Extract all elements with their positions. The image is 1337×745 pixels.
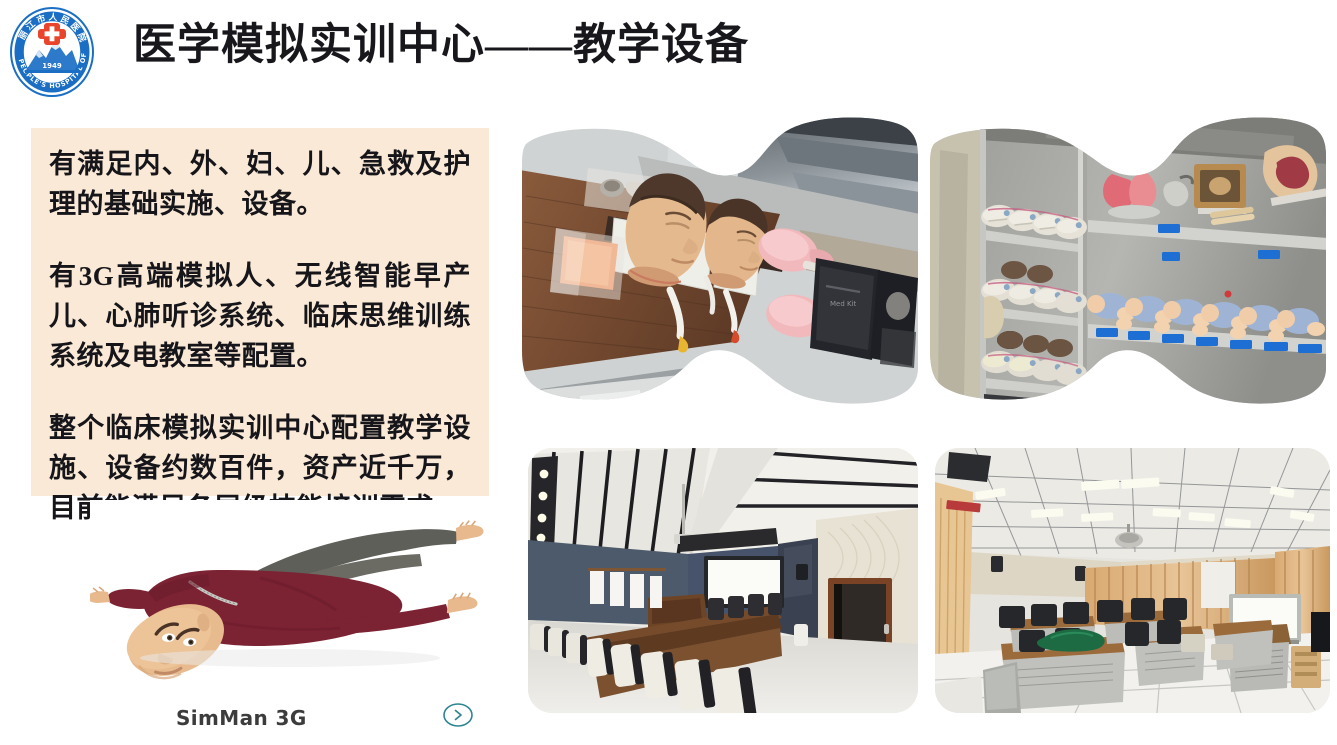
description-paragraph-1: 有满足内、外、妇、儿、急救及护理的基础实施、设备。 (49, 144, 471, 224)
photo-storage-shelves-image (928, 110, 1328, 410)
manikin-illustration (90, 500, 520, 690)
photo-lecture-hall-image (528, 448, 918, 713)
photo-airway-manikin-heads-image: Med Kit (520, 110, 920, 410)
svg-text:1949: 1949 (42, 62, 62, 70)
svg-text:Med Kit: Med Kit (830, 300, 857, 308)
page-title: 医学模拟实训中心——教学设备 (133, 16, 749, 76)
photo-storage-shelves-manikins (928, 110, 1328, 410)
simman-product-label: SimMan 3G (176, 706, 307, 730)
slide-root: 丽江市人民医院 PEOPLE'S HOSPITAL OF LIJIANG (0, 0, 1337, 745)
description-panel: 有满足内、外、妇、儿、急救及护理的基础实施、设备。 有3G高端模拟人、无线智能早… (31, 128, 489, 496)
simman-caption-row: SimMan 3G (90, 700, 520, 740)
slide-header: 丽江市人民医院 PEOPLE'S HOSPITAL OF LIJIANG (0, 0, 1337, 108)
hospital-logo: 丽江市人民医院 PEOPLE'S HOSPITAL OF LIJIANG (8, 6, 96, 98)
chevron-right-circle-glyph (442, 702, 474, 728)
photo-training-classroom (935, 448, 1330, 713)
simman-product-block: SimMan 3G (90, 500, 520, 745)
photo-airway-manikin-heads: Med Kit (520, 110, 920, 410)
simman-3g-manikin-photo (90, 500, 520, 690)
photo-lecture-hall (528, 448, 918, 713)
hospital-seal-icon: 丽江市人民医院 PEOPLE'S HOSPITAL OF LIJIANG (8, 6, 96, 98)
photo-training-classroom-image (935, 448, 1330, 713)
chevron-right-circle-icon[interactable] (442, 702, 474, 728)
description-paragraph-2: 有3G高端模拟人、无线智能早产儿、心肺听诊系统、临床思维训练系统及电教室等配置。 (49, 256, 471, 376)
